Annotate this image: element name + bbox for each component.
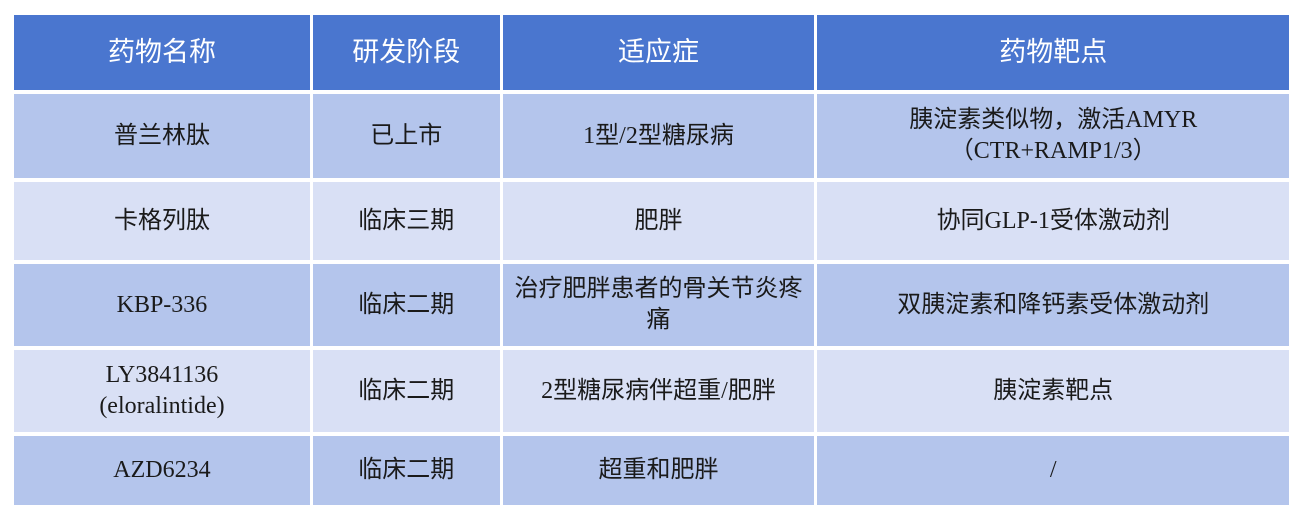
column-header-dev-stage: 研发阶段 <box>313 15 500 90</box>
cell-dev-stage: 已上市 <box>313 94 500 178</box>
cell-drug-name-line2: (eloralintide) <box>20 391 304 422</box>
table-row: KBP-336 临床二期 治疗肥胖患者的骨关节炎疼痛 双胰淀素和降钙素受体激动剂 <box>14 264 1289 346</box>
table-header-row: 药物名称 研发阶段 适应症 药物靶点 <box>14 15 1289 90</box>
cell-dev-stage: 临床二期 <box>313 436 500 505</box>
table-header: 药物名称 研发阶段 适应症 药物靶点 <box>14 15 1289 90</box>
column-header-drug-name: 药物名称 <box>14 15 310 90</box>
cell-indication: 2型糖尿病伴超重/肥胖 <box>503 350 815 432</box>
cell-drug-name-line1: LY3841136 <box>20 360 304 391</box>
cell-indication: 治疗肥胖患者的骨关节炎疼痛 <box>503 264 815 346</box>
cell-dev-stage: 临床三期 <box>313 182 500 260</box>
cell-drug-target: / <box>817 436 1289 505</box>
cell-drug-name: 卡格列肽 <box>14 182 310 260</box>
cell-indication: 肥胖 <box>503 182 815 260</box>
cell-dev-stage: 临床二期 <box>313 264 500 346</box>
cell-drug-name: 普兰林肽 <box>14 94 310 178</box>
cell-drug-target: 胰淀素类似物，激活AMYR （CTR+RAMP1/3） <box>817 94 1289 178</box>
drug-pipeline-table-container: 药物名称 研发阶段 适应症 药物靶点 普兰林肽 已上市 1型/2型糖尿病 胰淀素… <box>14 15 1295 495</box>
cell-drug-target: 协同GLP-1受体激动剂 <box>817 182 1289 260</box>
cell-drug-target: 双胰淀素和降钙素受体激动剂 <box>817 264 1289 346</box>
cell-indication: 超重和肥胖 <box>503 436 815 505</box>
column-header-indication: 适应症 <box>503 15 815 90</box>
table-row: 普兰林肽 已上市 1型/2型糖尿病 胰淀素类似物，激活AMYR （CTR+RAM… <box>14 94 1289 178</box>
cell-drug-target-line1: 胰淀素类似物，激活AMYR <box>823 105 1283 136</box>
drug-pipeline-table: 药物名称 研发阶段 适应症 药物靶点 普兰林肽 已上市 1型/2型糖尿病 胰淀素… <box>11 11 1292 509</box>
cell-indication: 1型/2型糖尿病 <box>503 94 815 178</box>
cell-drug-target: 胰淀素靶点 <box>817 350 1289 432</box>
table-row: LY3841136 (eloralintide) 临床二期 2型糖尿病伴超重/肥… <box>14 350 1289 432</box>
cell-dev-stage: 临床二期 <box>313 350 500 432</box>
cell-drug-name: LY3841136 (eloralintide) <box>14 350 310 432</box>
cell-drug-name: AZD6234 <box>14 436 310 505</box>
cell-drug-name: KBP-336 <box>14 264 310 346</box>
column-header-drug-target: 药物靶点 <box>817 15 1289 90</box>
table-row: 卡格列肽 临床三期 肥胖 协同GLP-1受体激动剂 <box>14 182 1289 260</box>
cell-drug-target-line2: （CTR+RAMP1/3） <box>823 136 1283 167</box>
table-row: AZD6234 临床二期 超重和肥胖 / <box>14 436 1289 505</box>
table-body: 普兰林肽 已上市 1型/2型糖尿病 胰淀素类似物，激活AMYR （CTR+RAM… <box>14 94 1289 505</box>
